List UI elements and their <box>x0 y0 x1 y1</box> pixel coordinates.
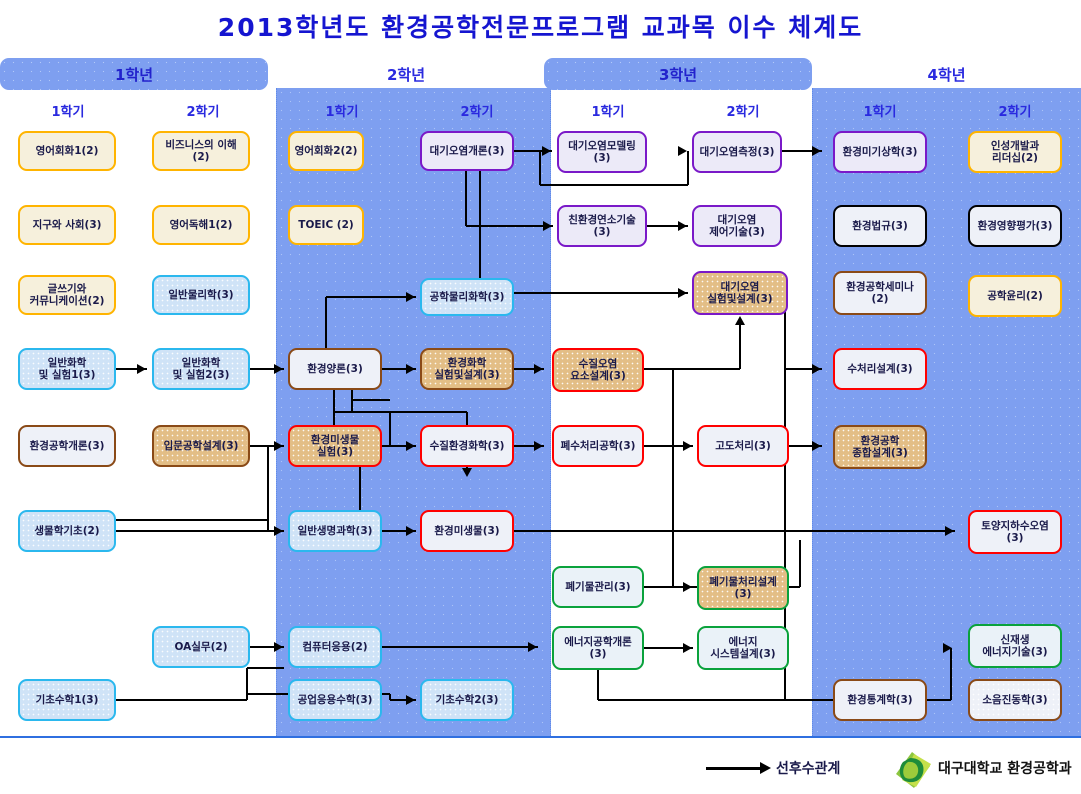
course-node-basicmath1[interactable]: 기초수학1(3) <box>18 679 116 721</box>
course-node-leadership[interactable]: 인성개발과리더십(2) <box>968 131 1062 173</box>
course-label: 환경미생물(3) <box>434 525 499 537</box>
semester-label-4-2: 2학기 <box>955 101 1075 120</box>
course-node-airctrl[interactable]: 대기오염제어기술(3) <box>692 205 782 247</box>
arrow-head-icon <box>943 643 952 653</box>
arrow-head-icon <box>678 146 687 156</box>
course-node-capstone[interactable]: 환경공학종합설계(3) <box>833 425 927 469</box>
course-node-compapp[interactable]: 컴퓨터응용(2) <box>288 626 382 668</box>
year-header-4: 4학년 <box>814 58 1079 90</box>
connector-segment <box>784 540 786 700</box>
connector-segment <box>326 296 416 298</box>
connector-segment <box>739 325 741 369</box>
arrow-head-icon <box>406 695 415 705</box>
connector-segment <box>390 411 467 413</box>
semester-label-1-1: 1학기 <box>8 101 128 120</box>
course-label: 일반화학및 실험2(3) <box>173 357 230 381</box>
connector-segment <box>334 411 390 413</box>
year-label-3: 3학년 <box>659 64 697 85</box>
connector-segment <box>597 670 599 700</box>
arrow-head-icon <box>678 221 687 231</box>
course-label: 신재생에너지기술(3) <box>982 634 1047 658</box>
course-node-envintro[interactable]: 환경공학개론(3) <box>18 425 116 467</box>
arrow-head-icon <box>274 364 283 374</box>
connector-segment <box>116 530 284 532</box>
course-node-biz[interactable]: 비즈니스의 이해(2) <box>152 131 250 171</box>
connector-segment <box>116 519 268 521</box>
arrow-head-icon <box>534 441 543 451</box>
course-label: 공학물리화학(3) <box>430 291 505 303</box>
legend-arrow-head-icon <box>760 762 771 774</box>
course-node-advtreat[interactable]: 고도처리(3) <box>697 425 789 467</box>
arrow-head-icon <box>678 288 687 298</box>
course-label: TOEIC (2) <box>298 219 353 231</box>
course-label: 영어회화1(2) <box>36 145 99 157</box>
course-label: 수질오염요소설계(3) <box>570 358 626 382</box>
semester-label-3-1: 1학기 <box>548 101 668 120</box>
course-label: 대기오염모델링(3) <box>568 140 636 164</box>
connector-segment <box>514 530 955 532</box>
course-label: 폐기물관리(3) <box>565 581 630 593</box>
course-node-basicmath2[interactable]: 기초수학2(3) <box>420 679 514 721</box>
course-node-airmodel[interactable]: 대기오염모델링(3) <box>557 131 647 173</box>
course-label: 환경통계학(3) <box>847 694 912 706</box>
course-node-envstat[interactable]: 환경통계학(3) <box>833 679 927 721</box>
arrow-head-icon <box>683 582 692 592</box>
course-label: 환경공학개론(3) <box>30 440 105 452</box>
course-label: 공학윤리(2) <box>987 290 1043 302</box>
arrow-head-icon <box>528 642 537 652</box>
course-node-soilgw[interactable]: 토양지하수오염(3) <box>968 510 1062 554</box>
course-label: 친환경연소기술(3) <box>568 214 636 238</box>
semester-label-2-1: 1학기 <box>282 101 402 120</box>
connector-segment <box>351 390 353 412</box>
course-label: 환경양론(3) <box>307 363 363 375</box>
course-label: 수처리설계(3) <box>847 363 912 375</box>
course-node-introdesign[interactable]: 입문공학설계(3) <box>152 425 250 467</box>
course-label: 환경법규(3) <box>852 220 908 232</box>
course-node-waterdesign2[interactable]: 수처리설계(3) <box>833 348 927 390</box>
page-title: 2013학년도 환경공학전문프로그램 교과목 이수 체계도 <box>0 8 1081 44</box>
course-label: 토양지하수오염(3) <box>981 520 1049 544</box>
course-node-engread1[interactable]: 영어독해1(2) <box>152 205 250 245</box>
year-header-1: 1학년 <box>0 58 268 90</box>
course-node-eng2[interactable]: 영어회화2(2) <box>288 131 364 171</box>
course-node-eng1[interactable]: 영어회화1(2) <box>18 131 116 171</box>
connector-segment <box>950 648 952 700</box>
connector-segment <box>540 184 688 186</box>
course-label: 고도처리(3) <box>715 440 771 452</box>
course-label: 지구와 사회(3) <box>33 219 102 231</box>
connector-segment <box>672 369 674 450</box>
course-node-wastedesign[interactable]: 폐기물처리설계(3) <box>697 566 789 610</box>
arrow-head-icon <box>274 441 283 451</box>
course-label: 환경영향평가(3) <box>978 220 1053 232</box>
course-label: 일반물리학(3) <box>168 289 233 301</box>
course-node-oa[interactable]: OA실무(2) <box>152 626 250 668</box>
course-label: 글쓰기와커뮤니케이션(2) <box>30 283 105 307</box>
connector-segment <box>644 368 740 370</box>
university-logo-icon <box>890 750 934 790</box>
year-label-4: 4학년 <box>927 64 965 85</box>
course-label: 환경미생물실험(3) <box>311 434 359 458</box>
course-label: 영어독해1(2) <box>170 219 233 231</box>
course-node-seminar[interactable]: 환경공학세미나(2) <box>833 271 927 315</box>
course-label: 소음진동학(3) <box>982 694 1047 706</box>
course-label: 인성개발과리더십(2) <box>991 140 1039 164</box>
arrow-head-icon <box>534 364 543 374</box>
course-node-greencomb[interactable]: 친환경연소기술(3) <box>557 205 647 247</box>
connector-segment <box>539 151 541 185</box>
legend-arrow-line <box>706 767 762 770</box>
course-node-envmicrolab[interactable]: 환경미생물실험(3) <box>288 425 382 467</box>
course-node-waterchem[interactable]: 수질환경화학(3) <box>420 425 514 467</box>
connector-segment <box>799 540 801 587</box>
course-node-eia[interactable]: 환경영향평가(3) <box>968 205 1062 247</box>
semester-label-3-2: 2학기 <box>683 101 803 120</box>
course-node-engphyschem[interactable]: 공학물리화학(3) <box>420 278 514 316</box>
course-node-indmath[interactable]: 공업응용수학(3) <box>288 679 382 721</box>
arrow-head-icon <box>406 292 415 302</box>
course-node-wastemgmt[interactable]: 폐기물관리(3) <box>552 566 644 608</box>
course-label: 환경공학종합설계(3) <box>852 435 908 459</box>
connector-segment <box>352 399 390 401</box>
course-node-micromet[interactable]: 환경미기상학(3) <box>833 131 927 173</box>
connector-segment <box>687 151 689 185</box>
arrow-head-icon <box>683 441 692 451</box>
legend-divider <box>0 736 1081 738</box>
course-label: 기초수학1(3) <box>36 694 99 706</box>
arrow-head-icon <box>406 441 415 451</box>
course-node-envlaw[interactable]: 환경법규(3) <box>833 205 927 247</box>
connector-segment <box>479 171 481 293</box>
course-label: 대기오염측정(3) <box>700 146 775 158</box>
course-label: 대기오염개론(3) <box>430 145 505 157</box>
arrow-head-icon <box>735 316 745 325</box>
course-label: 컴퓨터응용(2) <box>302 641 367 653</box>
semester-label-2-2: 2학기 <box>417 101 537 120</box>
arrow-head-icon <box>945 526 954 536</box>
course-node-biobasic[interactable]: 생물학기초(2) <box>18 510 116 552</box>
connector-segment <box>267 446 269 520</box>
arrow-head-icon <box>462 468 472 477</box>
arrow-head-icon <box>137 364 146 374</box>
course-node-ethics[interactable]: 공학윤리(2) <box>968 275 1062 317</box>
course-node-airintro[interactable]: 대기오염개론(3) <box>420 131 514 171</box>
arrow-head-icon <box>406 526 415 536</box>
course-node-earth[interactable]: 지구와 사회(3) <box>18 205 116 245</box>
course-label: 입문공학설계(3) <box>164 440 239 452</box>
course-label: 수질환경화학(3) <box>430 440 505 452</box>
arrow-head-icon <box>543 221 552 231</box>
course-node-energyintro[interactable]: 에너지공학개론(3) <box>552 626 644 670</box>
arrow-head-icon <box>812 146 821 156</box>
course-label: 기초수학2(3) <box>436 694 499 706</box>
connector-segment <box>116 699 247 701</box>
connector-segment <box>247 667 284 669</box>
course-label: 생물학기초(2) <box>34 525 99 537</box>
course-label: 비즈니스의 이해(2) <box>165 139 236 163</box>
year-label-1: 1학년 <box>115 64 153 85</box>
year-header-3: 3학년 <box>544 58 812 90</box>
arrow-head-icon <box>812 364 821 374</box>
year-header-2: 2학년 <box>272 58 540 90</box>
connector-segment <box>382 646 538 648</box>
course-node-writing[interactable]: 글쓰기와커뮤니케이션(2) <box>18 275 116 315</box>
connector-segment <box>465 171 467 226</box>
course-node-genchem2[interactable]: 일반화학및 실험2(3) <box>152 348 250 390</box>
course-label: 일반화학및 실험1(3) <box>39 357 96 381</box>
course-label: 폐수처리공학(3) <box>561 440 636 452</box>
course-node-airmeasure[interactable]: 대기오염측정(3) <box>692 131 782 173</box>
course-label: 영어회화2(2) <box>295 145 358 157</box>
year-label-2: 2학년 <box>387 64 425 85</box>
course-label: 대기오염제어기술(3) <box>709 214 765 238</box>
course-node-waterdesign[interactable]: 수질오염요소설계(3) <box>552 348 644 392</box>
connector-segment <box>784 293 786 540</box>
arrow-head-icon <box>274 526 283 536</box>
arrow-head-icon <box>274 642 283 652</box>
course-label: 환경화학실험및설계(3) <box>434 357 499 381</box>
course-label: OA실무(2) <box>175 641 228 653</box>
course-node-envmicro[interactable]: 환경미생물(3) <box>420 510 514 552</box>
course-node-genphys[interactable]: 일반물리학(3) <box>152 275 250 315</box>
course-label: 일반생명과학(3) <box>298 525 373 537</box>
course-node-envchemlab[interactable]: 환경화학실험및설계(3) <box>420 348 514 390</box>
semester-label-4-1: 1학기 <box>820 101 940 120</box>
semester-label-1-2: 2학기 <box>143 101 263 120</box>
course-node-toeic[interactable]: TOEIC (2) <box>288 205 364 245</box>
course-node-airlab[interactable]: 대기오염실험및설계(3) <box>692 271 788 315</box>
course-label: 에너지공학개론(3) <box>564 636 632 660</box>
course-node-energysys[interactable]: 에너지시스템설계(3) <box>697 626 789 670</box>
course-label: 공업응용수학(3) <box>298 694 373 706</box>
course-node-noise[interactable]: 소음진동학(3) <box>968 679 1062 721</box>
legend-relation-label: 선후수관계 <box>776 758 840 778</box>
course-label: 폐기물처리설계(3) <box>709 576 777 600</box>
organization-name: 대구대학교 환경공학과 <box>938 758 1072 778</box>
course-label: 에너지시스템설계(3) <box>710 636 775 660</box>
course-node-wastewater[interactable]: 폐수처리공학(3) <box>552 425 644 467</box>
course-node-genchem1[interactable]: 일반화학및 실험1(3) <box>18 348 116 390</box>
course-label: 환경미기상학(3) <box>843 146 918 158</box>
arrow-head-icon <box>812 441 821 451</box>
arrow-head-icon <box>683 643 692 653</box>
arrow-head-icon <box>542 146 551 156</box>
connector-segment <box>514 150 540 152</box>
arrow-head-icon <box>406 364 415 374</box>
course-label: 대기오염실험및설계(3) <box>707 281 772 305</box>
course-label: 환경공학세미나(2) <box>846 281 914 305</box>
connector-segment <box>389 412 391 446</box>
course-node-genlife[interactable]: 일반생명과학(3) <box>288 510 382 552</box>
course-node-renewable[interactable]: 신재생에너지기술(3) <box>968 624 1062 668</box>
course-node-envstoich[interactable]: 환경양론(3) <box>288 348 382 390</box>
